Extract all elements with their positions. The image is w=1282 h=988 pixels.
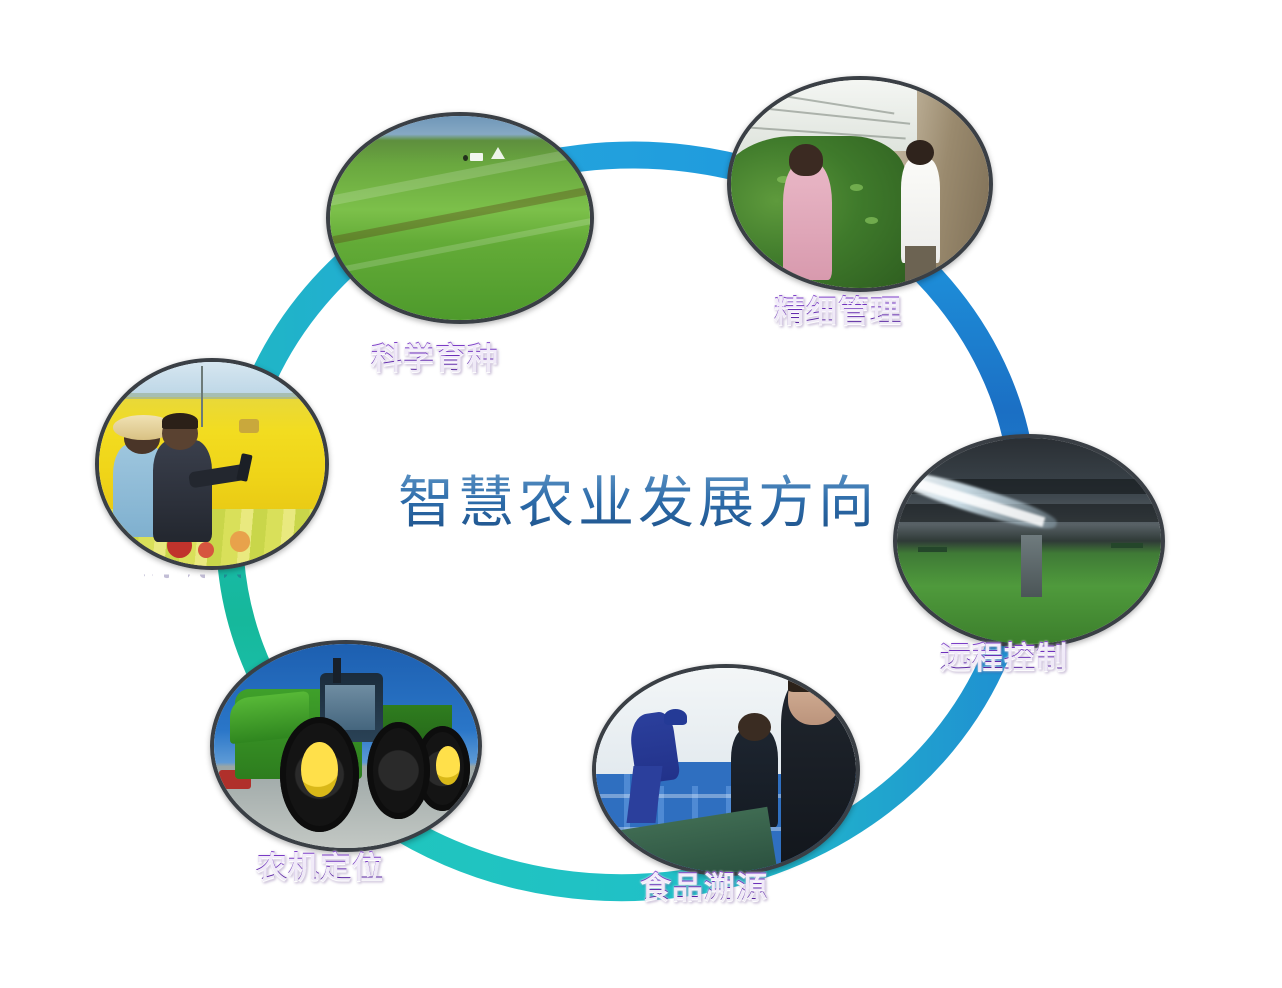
node-trace-photo[interactable] [592, 664, 860, 876]
node-label-harvest-faded: •••••• [140, 560, 252, 590]
node-tractor-photo[interactable] [210, 640, 482, 852]
node-label-trace: 食品溯源 [640, 862, 768, 907]
node-label-seed: 科学育种 [371, 333, 499, 378]
node-manage-photo[interactable] [727, 76, 993, 292]
node-harvest-photo[interactable] [95, 358, 329, 570]
page-title: 智慧农业发展方向 [398, 458, 878, 539]
node-label-remote: 远程控制 [940, 632, 1068, 677]
smart-agriculture-cycle-diagram: 科学育种 精细管理 远程控制 [0, 0, 1282, 988]
greenhouse-icon [731, 80, 989, 288]
node-label-tractor: 农机定位 [256, 842, 384, 887]
node-seed-photo[interactable] [326, 112, 594, 324]
food-inspection-icon [596, 668, 856, 872]
rapeseed-field-icon [99, 362, 325, 566]
node-label-manage: 精细管理 [774, 286, 902, 331]
green-tractor-icon [214, 644, 478, 848]
sprinkler-irrigation-icon [897, 438, 1161, 644]
node-remote-photo[interactable] [893, 434, 1165, 648]
paddy-field-icon [330, 116, 590, 320]
